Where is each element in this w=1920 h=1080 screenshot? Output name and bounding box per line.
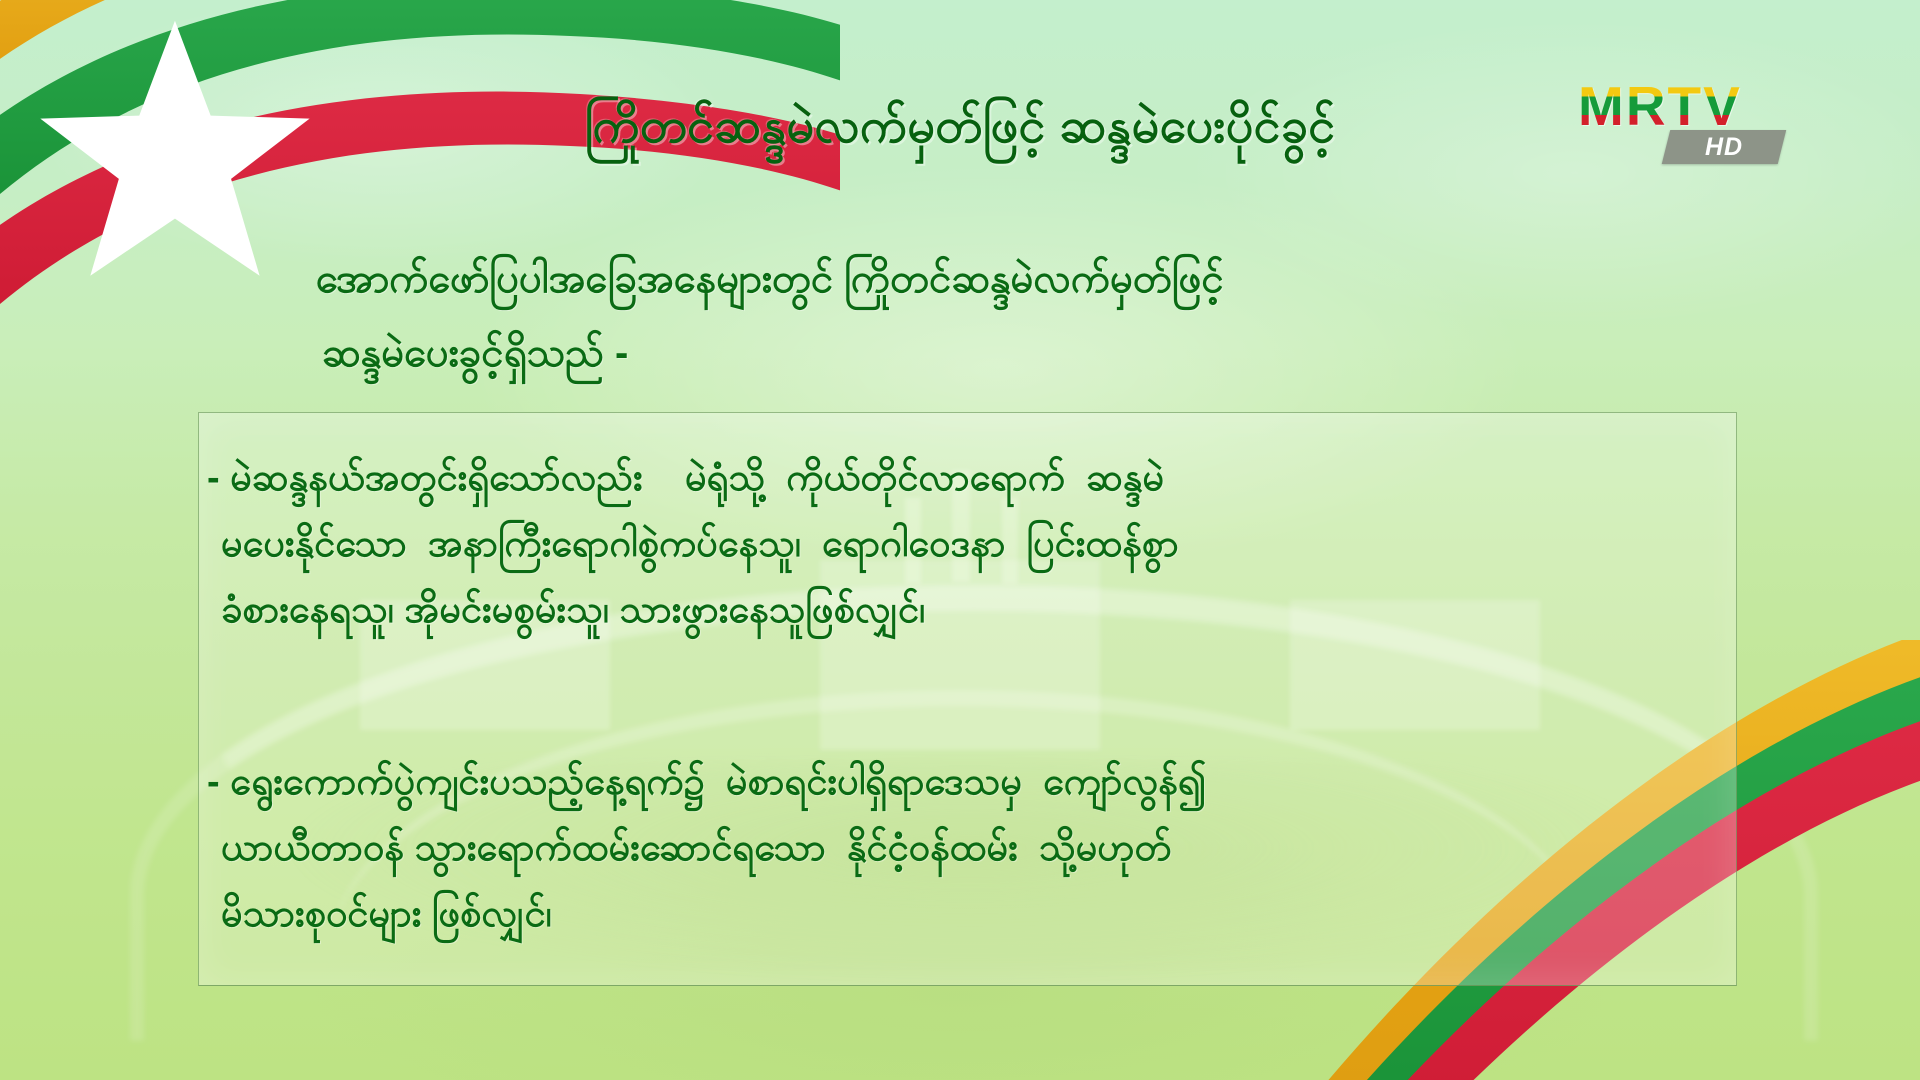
page-title: ကြိုတင်ဆန္ဒမဲလက်မှတ်ဖြင့် ဆန္ဒမဲပေးပိုင်…	[0, 96, 1920, 166]
clause-2-line-3-clipped: မိသားစုဝင်များ ဖြစ်လျှင်၊	[199, 881, 1736, 947]
clause-1-line-2: မပေးနိုင်သော အနာကြီးရောဂါစွဲကပ်နေသူ၊ ရော…	[199, 511, 1736, 577]
clause-2-line-1: - ရွေးကောက်ပွဲကျင်းပသည့်နေ့ရက်၌ မဲစာရင်း…	[199, 749, 1736, 815]
subtitle-line-1: အောက်ဖော်ပြပါအခြေအနေများတွင် ကြိုတင်ဆန္ဒ…	[316, 242, 1676, 316]
subtitle: အောက်ဖော်ပြပါအခြေအနေများတွင် ကြိုတင်ဆန္ဒ…	[316, 242, 1676, 390]
broadcast-slide: MRTV HD ကြိုတင်ဆန္ဒမဲလက်မှတ်ဖြင့် ဆန္ဒမဲ…	[0, 0, 1920, 1080]
subtitle-line-2: ဆန္ဒမဲပေးခွင့်ရှိသည် -	[316, 316, 1676, 390]
clause-2-line-2: ယာယီတာဝန် သွားရောက်ထမ်းဆောင်ရသော နိုင်ငံ…	[199, 815, 1736, 881]
clause-item: - ရွေးကောက်ပွဲကျင်းပသည့်နေ့ရက်၌ မဲစာရင်း…	[199, 749, 1736, 947]
clause-item: - မဲဆန္ဒနယ်အတွင်းရှိသော်လည်း မဲရုံသို့ က…	[199, 445, 1736, 643]
clause-1-line-1: - မဲဆန္ဒနယ်အတွင်းရှိသော်လည်း မဲရုံသို့ က…	[199, 445, 1736, 511]
content-box: - မဲဆန္ဒနယ်အတွင်းရှိသော်လည်း မဲရုံသို့ က…	[198, 412, 1737, 986]
clause-1-line-3: ခံစားနေရသူ၊ အိုမင်းမစွမ်းသူ၊ သားဖွားနေသူ…	[199, 577, 1736, 643]
